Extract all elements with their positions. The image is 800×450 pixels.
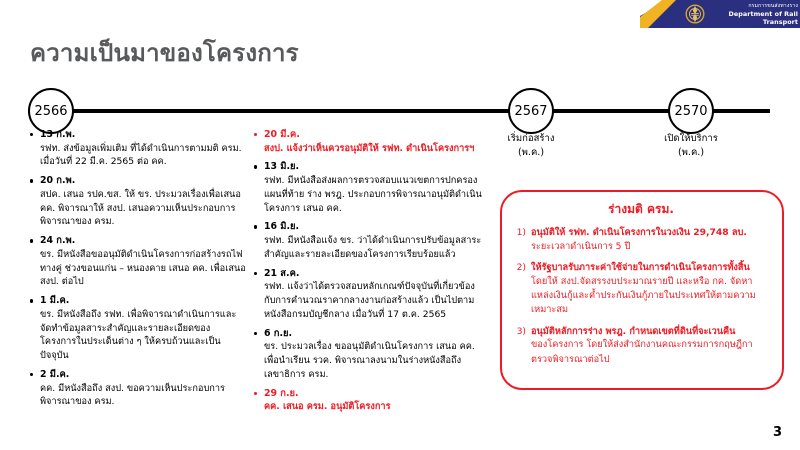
timeline-entry: 24 ก.พ. ขร. มีหนังสือขออนุมัติดำเนินโครง… — [28, 234, 246, 289]
entry-date: 6 ก.ย. — [252, 327, 484, 341]
resolution-item-sub: โดยให้ สงป.จัดสรรงบประมาณรายปี และหรือ ก… — [531, 275, 772, 318]
entry-body: รฟท. ส่งข้อมูลเพิ่มเติม ที่ได้ดำเนินการต… — [28, 142, 246, 170]
entry-body: ขร. ประมวลเรื่อง ขออนุมัติดำเนินโครงการ … — [252, 340, 484, 381]
timeline-entry: 20 มี.ค. สงป. แจ้งว่าเห็นควรอนุมัติให้ ร… — [252, 128, 484, 155]
timeline-entry: 13 ก.พ. รฟท. ส่งข้อมูลเพิ่มเติม ที่ได้ดำ… — [28, 128, 246, 169]
banner-org-text: กรมการขนส่งทางราง Department of Rail Tra… — [710, 3, 798, 26]
timeline-entry: 21 ส.ค. รฟท. แจ้งว่าได้ตรวจสอบหลักเกณฑ์ป… — [252, 267, 484, 322]
entry-date: 20 มี.ค. — [252, 128, 484, 142]
entry-date: 24 ก.พ. — [28, 234, 246, 248]
resolution-item-number: 3) — [510, 325, 531, 367]
entry-body: รฟท. มีหนังสือแจ้ง ขร. ว่าได้ดำเนินการปร… — [252, 234, 484, 262]
timeline-entry: 16 มิ.ย. รฟท. มีหนังสือแจ้ง ขร. ว่าได้ดำ… — [252, 220, 484, 261]
timeline-node-2570: 2570 — [668, 88, 714, 134]
entry-body: สปค. เสนอ รปค.ขส. ให้ ขร. ประมวลเรื่องเพ… — [28, 188, 246, 229]
entry-body: คค. เสนอ ครม. อนุมัติโครงการ — [252, 400, 484, 414]
resolution-item-text: อนุมัติให้ รฟท. ดำเนินโครงการในวงเงิน 29… — [531, 226, 772, 254]
resolution-item-text: ให้รัฐบาลรับภาระค่าใช้จ่ายในการดำเนินโคร… — [531, 261, 772, 318]
resolution-item-number: 2) — [510, 261, 531, 318]
resolution-item-lead: อนุมัติหลักการร่าง พรฎ. กำหนดเขตที่ดินที… — [531, 325, 772, 339]
entry-body: รฟท. แจ้งว่าได้ตรวจสอบหลักเกณฑ์ปัจจุบันท… — [252, 280, 484, 321]
timeline-entry: 29 ก.ย. คค. เสนอ ครม. อนุมัติโครงการ — [252, 387, 484, 414]
timeline-entry: 13 มิ.ย. รฟท. มีหนังสือส่งผลการตรวจสอบแน… — [252, 160, 484, 215]
timeline-entry: 20 ก.พ. สปค. เสนอ รปค.ขส. ให้ ขร. ประมวล… — [28, 174, 246, 229]
entry-body: คค. มีหนังสือถึง สงป. ขอความเห็นประกอบกา… — [28, 382, 246, 410]
resolution-item-sub: ระยะเวลาดำเนินการ 5 ปี — [531, 240, 772, 254]
resolution-item: 2) ให้รัฐบาลรับภาระค่าใช้จ่ายในการดำเนิน… — [510, 261, 772, 318]
entry-date: 21 ส.ค. — [252, 267, 484, 281]
resolution-item: 3) อนุมัติหลักการร่าง พรฎ. กำหนดเขตที่ดิ… — [510, 325, 772, 367]
resolution-item-sub: ของโครงการ โดยให้ส่งสำนักงานคณะกรรมการกฤ… — [531, 338, 772, 367]
entry-body: รฟท. มีหนังสือส่งผลการตรวจสอบแนวเขตการปก… — [252, 174, 484, 215]
page-title: ความเป็นมาของโครงการ — [30, 33, 299, 72]
resolution-item-text: อนุมัติหลักการร่าง พรฎ. กำหนดเขตที่ดินที… — [531, 325, 772, 367]
timeline-caption-2570: เปิดให้บริการ (พ.ค.) — [631, 132, 751, 160]
header-banner: กรมการขนส่งทางราง Department of Rail Tra… — [640, 0, 800, 28]
page-number: 3 — [773, 425, 782, 440]
resolution-item-number: 1) — [510, 226, 531, 254]
timeline-column-left: 13 ก.พ. รฟท. ส่งข้อมูลเพิ่มเติม ที่ได้ดำ… — [28, 128, 246, 414]
entry-body: ขร. มีหนังสือขออนุมัติดำเนินโครงการก่อสร… — [28, 248, 246, 289]
entry-date: 2 มี.ค. — [28, 368, 246, 382]
timeline-entry: 2 มี.ค. คค. มีหนังสือถึง สงป. ขอความเห็น… — [28, 368, 246, 409]
resolution-item-lead: ให้รัฐบาลรับภาระค่าใช้จ่ายในการดำเนินโคร… — [531, 261, 772, 275]
entry-body: ขร. มีหนังสือถึง รฟท. เพื่อพิจารณาดำเนิน… — [28, 308, 246, 363]
timeline-caption-2567: เริ่มก่อสร้าง (พ.ค.) — [471, 132, 591, 160]
timeline-axis-line — [28, 109, 770, 113]
entry-body: สงป. แจ้งว่าเห็นควรอนุมัติให้ รฟท. ดำเนิ… — [252, 142, 484, 156]
timeline-caption-2567-line1: เริ่มก่อสร้าง — [471, 132, 591, 146]
timeline-node-2567: 2567 — [508, 88, 554, 134]
org-name-en: Department of Rail Transport — [710, 10, 798, 26]
resolution-item: 1) อนุมัติให้ รฟท. ดำเนินโครงการในวงเงิน… — [510, 226, 772, 254]
resolution-box-title: ร่างมติ ครม. — [510, 200, 772, 219]
timeline-caption-2570-line1: เปิดให้บริการ — [631, 132, 751, 146]
entry-date: 13 มิ.ย. — [252, 160, 484, 174]
entry-date: 20 ก.พ. — [28, 174, 246, 188]
resolution-item-lead: อนุมัติให้ รฟท. ดำเนินโครงการในวงเงิน 29… — [531, 226, 772, 240]
rail-transport-emblem-icon — [684, 3, 706, 25]
timeline-caption-2570-line2: (พ.ค.) — [631, 146, 751, 160]
entry-date: 16 มิ.ย. — [252, 220, 484, 234]
timeline-caption-2567-line2: (พ.ค.) — [471, 146, 591, 160]
timeline-entry: 1 มี.ค. ขร. มีหนังสือถึง รฟท. เพื่อพิจาร… — [28, 294, 246, 363]
entry-date: 1 มี.ค. — [28, 294, 246, 308]
timeline-column-middle: 20 มี.ค. สงป. แจ้งว่าเห็นควรอนุมัติให้ ร… — [252, 128, 484, 419]
entry-date: 13 ก.พ. — [28, 128, 246, 142]
entry-date: 29 ก.ย. — [252, 387, 484, 401]
timeline-entry: 6 ก.ย. ขร. ประมวลเรื่อง ขออนุมัติดำเนินโ… — [252, 327, 484, 382]
cabinet-resolution-box: ร่างมติ ครม. 1) อนุมัติให้ รฟท. ดำเนินโค… — [500, 190, 784, 390]
